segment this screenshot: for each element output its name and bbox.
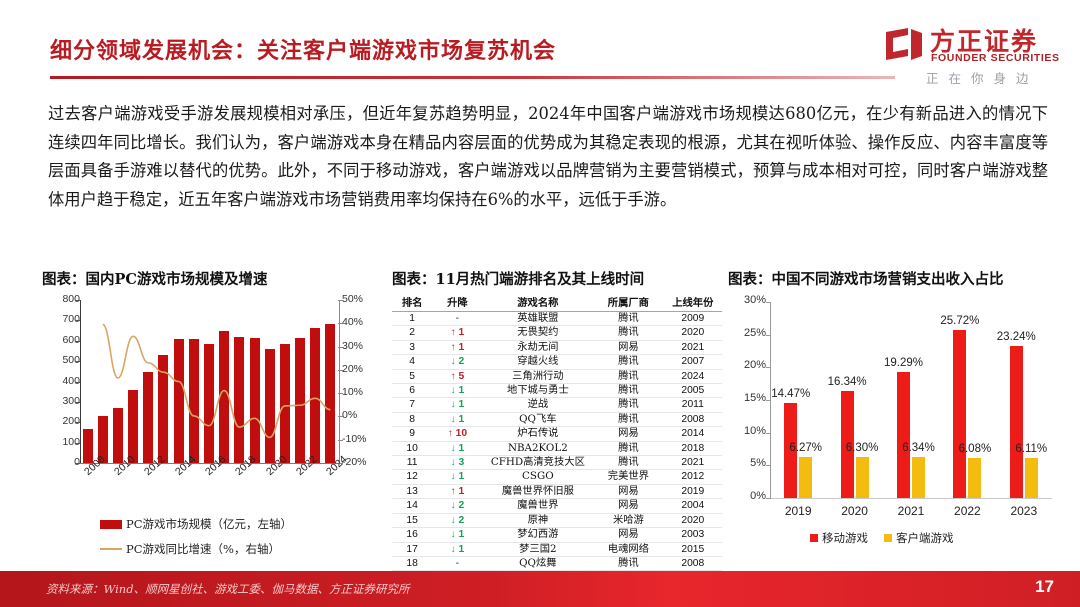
chart1-ytick-left: 400 [48,375,80,387]
arrow-down-icon: ↓ 2 [451,356,465,367]
chart3-bar-client [799,457,812,498]
table-cell: 2005 [664,384,722,398]
chart1-ytick-left: 500 [48,354,80,366]
table-cell: 2020 [664,326,722,340]
table-column-header: 上线年份 [664,294,722,312]
arrow-down-icon: ↓ 2 [451,500,465,511]
table-cell: 2004 [664,499,722,513]
arrow-up-icon: ↑ 10 [448,428,467,439]
chart3-ytick: 0% [732,490,766,502]
chart3-bar-client [968,458,981,498]
table-cell: 腾讯 [593,556,663,570]
table-row[interactable]: 11↓ 3CFHD高清竞技大区腾讯2021 [392,456,722,470]
table-cell: ↓ 2 [432,513,482,527]
table-row[interactable]: 15↓ 2原神米哈游2020 [392,513,722,527]
table-cell: 腾讯 [593,456,663,470]
table-panel-top-pc-games: 图表：11月热门端游排名及其上线时间 排名升降游戏名称所属厂商上线年份 1-英雄… [392,268,722,568]
chart3-bar-mobile [897,372,910,498]
table-cell: 2011 [664,398,722,412]
chart3-title: 图表：中国不同游戏市场营销支出收入占比 [728,268,1068,289]
table-cell: 腾讯 [593,441,663,455]
table-cell: 网易 [593,484,663,498]
arrow-up-icon: ↑ 1 [451,342,465,353]
table-cell: 英雄联盟 [483,312,594,326]
table-cell: QQ炫舞 [483,556,594,570]
chart3-ytick: 20% [732,359,766,371]
body-paragraph: 过去客户端游戏受手游发展规模相对承压，但近年复苏趋势明显，2024年中国客户端游… [48,100,1048,214]
slide: 细分领域发展机会：关注客户端游戏市场复苏机会 方正证券 FOUNDER SECU… [0,0,1080,607]
chart3-xtick: 2023 [994,504,1054,518]
table-cell: 2024 [664,369,722,383]
table-cell: ↑ 10 [432,427,482,441]
table-cell: 2018 [664,441,722,455]
table-cell: - [432,556,482,570]
chart3-bar-client [912,457,925,498]
source-note: 资料来源：Wind、顺网星创社、游戏工委、伽马数据、方正证券研究所 [46,581,410,597]
table-row[interactable]: 16↓ 1梦幻西游网易2003 [392,528,722,542]
table-cell: 7 [392,398,432,412]
table-cell: ↓ 2 [432,355,482,369]
chart3-xtick: 2020 [825,504,885,518]
table-cell: 梦幻西游 [483,528,594,542]
table-cell: 三角洲行动 [483,369,594,383]
table-cell: 魔兽世界 [483,499,594,513]
table-cell: ↑ 1 [432,326,482,340]
table-cell: 3 [392,340,432,354]
table-cell: 2019 [664,484,722,498]
chart1-legend-item-line: PC游戏同比增速（%，右轴） [100,541,292,557]
table-row[interactable]: 1-英雄联盟腾讯2009 [392,312,722,326]
mobile-swatch-icon [810,534,818,542]
chart1-legend-label-line: PC游戏同比增速（%，右轴） [126,541,280,557]
table-cell: 4 [392,355,432,369]
table-cell: 2009 [664,312,722,326]
chart1-tick-right [338,370,343,371]
table-cell: NBA2KOL2 [483,441,594,455]
table-cell: 2020 [664,513,722,527]
table-cell: QQ飞车 [483,412,594,426]
table-cell: 腾讯 [593,355,663,369]
table-cell: 14 [392,499,432,513]
chart3-value-label: 6.27% [779,442,833,454]
table-cell: 2008 [664,556,722,570]
table-cell: ↑ 1 [432,484,482,498]
chart1-ytick-right: 0% [342,409,378,421]
chart3-value-label: 6.30% [835,442,889,454]
table-cell: 电魂网络 [593,542,663,556]
table-cell: 9 [392,427,432,441]
table-row[interactable]: 10↓ 1NBA2KOL2腾讯2018 [392,441,722,455]
table-cell: 网易 [593,528,663,542]
chart3-bar-mobile [1010,346,1023,498]
chart1-ytick-right: 30% [342,340,378,352]
table-column-header: 游戏名称 [483,294,594,312]
chart1-ytick-left: 200 [48,415,80,427]
page-number: 17 [1035,577,1054,597]
chart-panel-marketing-ratio: 图表：中国不同游戏市场营销支出收入占比 30%25%20%15%10%5%0% … [728,268,1068,568]
table-row[interactable]: 2↑ 1无畏契约腾讯2020 [392,326,722,340]
bar-swatch-icon [100,520,122,529]
logo-english-name: FOUNDER SECURITIES [931,52,1060,64]
table-row[interactable]: 8↓ 1QQ飞车腾讯2008 [392,412,722,426]
table-cell: ↑ 5 [432,369,482,383]
table-cell: ↓ 1 [432,441,482,455]
slide-header: 细分领域发展机会：关注客户端游戏市场复苏机会 方正证券 FOUNDER SECU… [0,0,1080,92]
table-cell: CFHD高清竞技大区 [483,456,594,470]
arrow-down-icon: ↓ 1 [451,399,465,410]
chart3-legend-label-mobile: 移动游戏 [822,531,868,545]
table-row[interactable]: 6↓ 1地下城与勇士腾讯2005 [392,384,722,398]
table-cell: 米哈游 [593,513,663,527]
table-cell: 2007 [664,355,722,369]
chart3-xtick: 2021 [881,504,941,518]
table-cell: 10 [392,441,432,455]
table-cell: CSGO [483,470,594,484]
table-row[interactable]: 9↑ 10炉石传说网易2014 [392,427,722,441]
chart1-legend-item-bar: PC游戏市场规模（亿元，左轴） [100,516,292,532]
arrow-down-icon: ↓ 1 [451,544,465,555]
chart3-value-label: 16.34% [820,376,874,388]
table-cell: 完美世界 [593,470,663,484]
company-logo: 方正证券 FOUNDER SECURITIES 正在你身边 [884,22,1062,88]
arrow-down-icon: ↓ 2 [451,515,465,526]
table-column-header: 排名 [392,294,432,312]
founder-logo-icon [884,26,924,62]
table-cell: 12 [392,470,432,484]
chart1-legend: PC游戏市场规模（亿元，左轴） PC游戏同比增速（%，右轴） [100,516,292,566]
chart3-tick [766,498,771,499]
table-cell: ↓ 1 [432,528,482,542]
chart3-value-label: 23.24% [989,331,1043,343]
table-cell: ↓ 1 [432,470,482,484]
chart1-ytick-right: 40% [342,316,378,328]
table-cell: 穿越火线 [483,355,594,369]
chart1-tick-left [75,463,80,464]
table-cell: 18 [392,556,432,570]
chart3-xtick: 2022 [937,504,997,518]
chart1-tick-right [338,347,343,348]
chart3-ytick: 10% [732,425,766,437]
chart-panel-pc-market: 图表：国内PC游戏市场规模及增速 80070060050040030020010… [42,268,382,568]
table-column-header: 所属厂商 [593,294,663,312]
table-cell: 腾讯 [593,369,663,383]
table-row[interactable]: 14↓ 2魔兽世界网易2004 [392,499,722,513]
table-cell: 原神 [483,513,594,527]
table-body: 1-英雄联盟腾讯20092↑ 1无畏契约腾讯20203↑ 1永劫无间网易2021… [392,312,722,600]
table-cell: ↑ 1 [432,340,482,354]
chart1-legend-label-bar: PC游戏市场规模（亿元，左轴） [126,516,292,532]
table-cell: ↓ 1 [432,412,482,426]
table-cell: 永劫无间 [483,340,594,354]
table-row[interactable]: 5↑ 5三角洲行动腾讯2024 [392,369,722,383]
table-cell: 15 [392,513,432,527]
chart3-value-label: 14.47% [764,388,818,400]
chart1-tick-right [338,416,343,417]
table-row[interactable]: 3↑ 1永劫无间网易2021 [392,340,722,354]
chart3-bar-client [856,457,869,498]
table-cell: 11 [392,456,432,470]
chart1-ytick-left: 300 [48,395,80,407]
arrow-down-icon: ↓ 1 [451,529,465,540]
table-cell: ↓ 1 [432,398,482,412]
table-cell: 17 [392,542,432,556]
table-cell: 2021 [664,340,722,354]
table-cell: - [432,312,482,326]
logo-slogan: 正在你身边 [926,68,1039,87]
chart3-value-label: 6.08% [948,443,1002,455]
table-cell: 梦三国2 [483,542,594,556]
chart1-ytick-right: 50% [342,293,378,305]
table-cell: 16 [392,528,432,542]
top-games-table: 排名升降游戏名称所属厂商上线年份 1-英雄联盟腾讯20092↑ 1无畏契约腾讯2… [392,294,722,600]
table-row[interactable]: 18-QQ炫舞腾讯2008 [392,556,722,570]
table-row[interactable]: 4↓ 2穿越火线腾讯2007 [392,355,722,369]
chart1-ytick-left: 700 [48,313,80,325]
table-cell: 8 [392,412,432,426]
chart1-ytick-right: 10% [342,386,378,398]
table-cell: 2021 [664,456,722,470]
chart1-ytick-left: 100 [48,436,80,448]
arrow-down-icon: ↓ 1 [451,385,465,396]
table-cell: 2008 [664,412,722,426]
arrow-up-icon: ↑ 1 [451,327,465,338]
table-cell: 2003 [664,528,722,542]
chart3-ytick: 30% [732,294,766,306]
chart1-ytick-left: 0 [48,456,80,468]
chart3-bar-mobile [953,330,966,498]
arrow-down-icon: ↓ 1 [451,414,465,425]
page-title: 细分领域发展机会：关注客户端游戏市场复苏机会 [50,33,556,65]
chart3-baseline [770,498,1052,499]
chart1-ytick-right: 20% [342,363,378,375]
table-row[interactable]: 17↓ 1梦三国2电魂网络2015 [392,542,722,556]
chart3-value-label: 6.34% [892,442,946,454]
table-row[interactable]: 7↓ 1逆战腾讯2011 [392,398,722,412]
table-row[interactable]: 12↓ 1CSGO完美世界2012 [392,470,722,484]
table-cell: 2015 [664,542,722,556]
table-cell: 腾讯 [593,326,663,340]
line-swatch-icon [100,548,122,550]
table-cell: 网易 [593,499,663,513]
chart3-bar-client [1025,458,1038,498]
chart3-legend-item-client: 客户端游戏 [884,530,954,546]
table-cell: 网易 [593,427,663,441]
chart3-legend-item-mobile: 移动游戏 [810,530,868,546]
chart1-growth-line [80,300,338,463]
table-cell: 腾讯 [593,384,663,398]
chart1-tick-right [338,393,343,394]
chart1-ytick-left: 800 [48,293,80,305]
table-cell: 6 [392,384,432,398]
chart3-ytick: 15% [732,392,766,404]
chart1-tick-right [338,440,343,441]
table-cell: 13 [392,484,432,498]
arrow-down-icon: ↓ 1 [451,443,465,454]
arrow-down-icon: ↓ 1 [451,471,465,482]
table-cell: 地下城与勇士 [483,384,594,398]
dash-icon: - [456,313,459,324]
chart1-ytick-right: -10% [342,433,378,445]
table-cell: 2012 [664,470,722,484]
table-cell: 腾讯 [593,412,663,426]
chart3-legend-label-client: 客户端游戏 [896,531,954,545]
chart1-ytick-left: 600 [48,334,80,346]
table-cell: 5 [392,369,432,383]
title-underline [50,76,895,79]
chart3-value-label: 19.29% [877,357,931,369]
table-cell: 逆战 [483,398,594,412]
table-row[interactable]: 13↑ 1魔兽世界怀旧服网易2019 [392,484,722,498]
chart3-ytick: 25% [732,327,766,339]
table-cell: 2 [392,326,432,340]
table-cell: ↓ 1 [432,384,482,398]
table-cell: ↓ 3 [432,456,482,470]
chart1-tick-right [338,300,343,301]
chart3-legend: 移动游戏 客户端游戏 [810,530,954,546]
table-title: 图表：11月热门端游排名及其上线时间 [392,268,722,289]
table-cell: 腾讯 [593,398,663,412]
chart3-ytick: 5% [732,457,766,469]
table-cell: 1 [392,312,432,326]
table-cell: 无畏契约 [483,326,594,340]
table-cell: 网易 [593,340,663,354]
chart3-xtick: 2019 [768,504,828,518]
arrow-up-icon: ↑ 5 [451,371,465,382]
arrow-down-icon: ↓ 3 [451,457,465,468]
dash-icon: - [456,558,459,569]
chart3-value-label: 6.11% [1004,443,1058,455]
table-cell: 炉石传说 [483,427,594,441]
table-cell: 2014 [664,427,722,441]
table-cell: 魔兽世界怀旧服 [483,484,594,498]
chart1-tick-right [338,323,343,324]
arrow-up-icon: ↑ 1 [451,486,465,497]
table-cell: 腾讯 [593,312,663,326]
client-swatch-icon [884,534,892,542]
table-column-header: 升降 [432,294,482,312]
slide-footer: 资料来源：Wind、顺网星创社、游戏工委、伽马数据、方正证券研究所 17 [0,571,1080,607]
chart1-title: 图表：国内PC游戏市场规模及增速 [42,268,382,289]
chart3-bars: 14.47%6.27%16.34%6.30%19.29%6.34%25.72%6… [770,302,1052,498]
table-header-row: 排名升降游戏名称所属厂商上线年份 [392,294,722,312]
table-cell: ↓ 1 [432,542,482,556]
table-cell: ↓ 2 [432,499,482,513]
chart3-value-label: 25.72% [933,315,987,327]
